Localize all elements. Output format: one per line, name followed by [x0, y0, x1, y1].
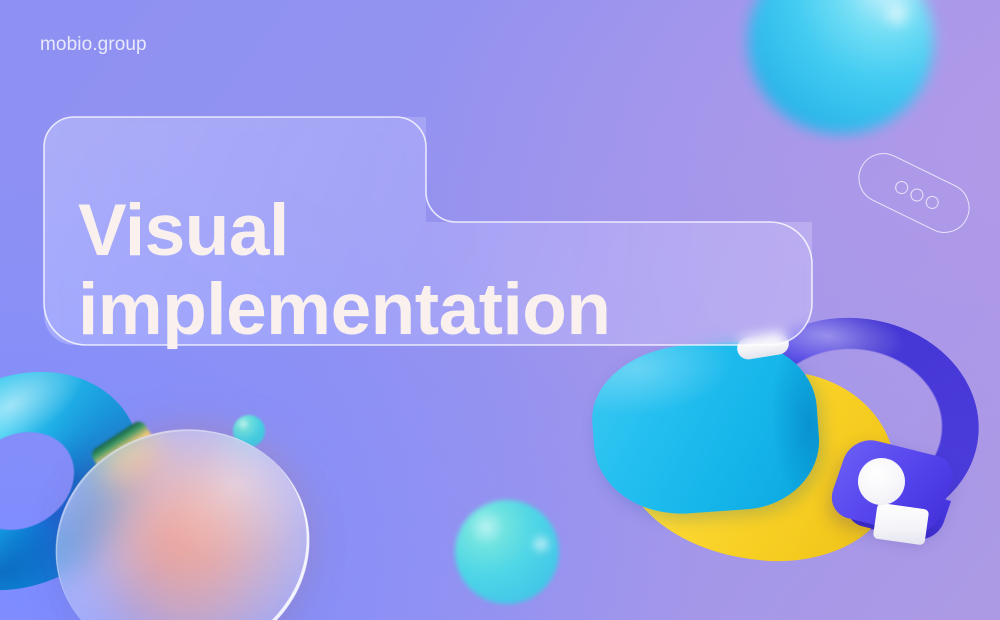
capsule-dot-icon	[908, 186, 925, 203]
capsule-dot-icon	[924, 194, 941, 211]
vr-headset-illustration	[575, 318, 1000, 620]
hero-banner: mobio.group Visual implementation	[0, 0, 1000, 620]
capsule-outline-decoration	[850, 145, 978, 242]
sphere-center-highlight-icon	[530, 534, 552, 554]
page-title: Visual implementation	[78, 191, 798, 350]
capsule-dot-icon	[893, 179, 910, 196]
vr-side-knob-icon	[858, 458, 905, 505]
vr-front-face-shading	[587, 336, 823, 519]
brand-logo-text: mobio.group	[40, 34, 147, 56]
sphere-top-right-highlight-icon	[880, 0, 914, 28]
vr-bottom-strap-pad	[873, 503, 930, 546]
